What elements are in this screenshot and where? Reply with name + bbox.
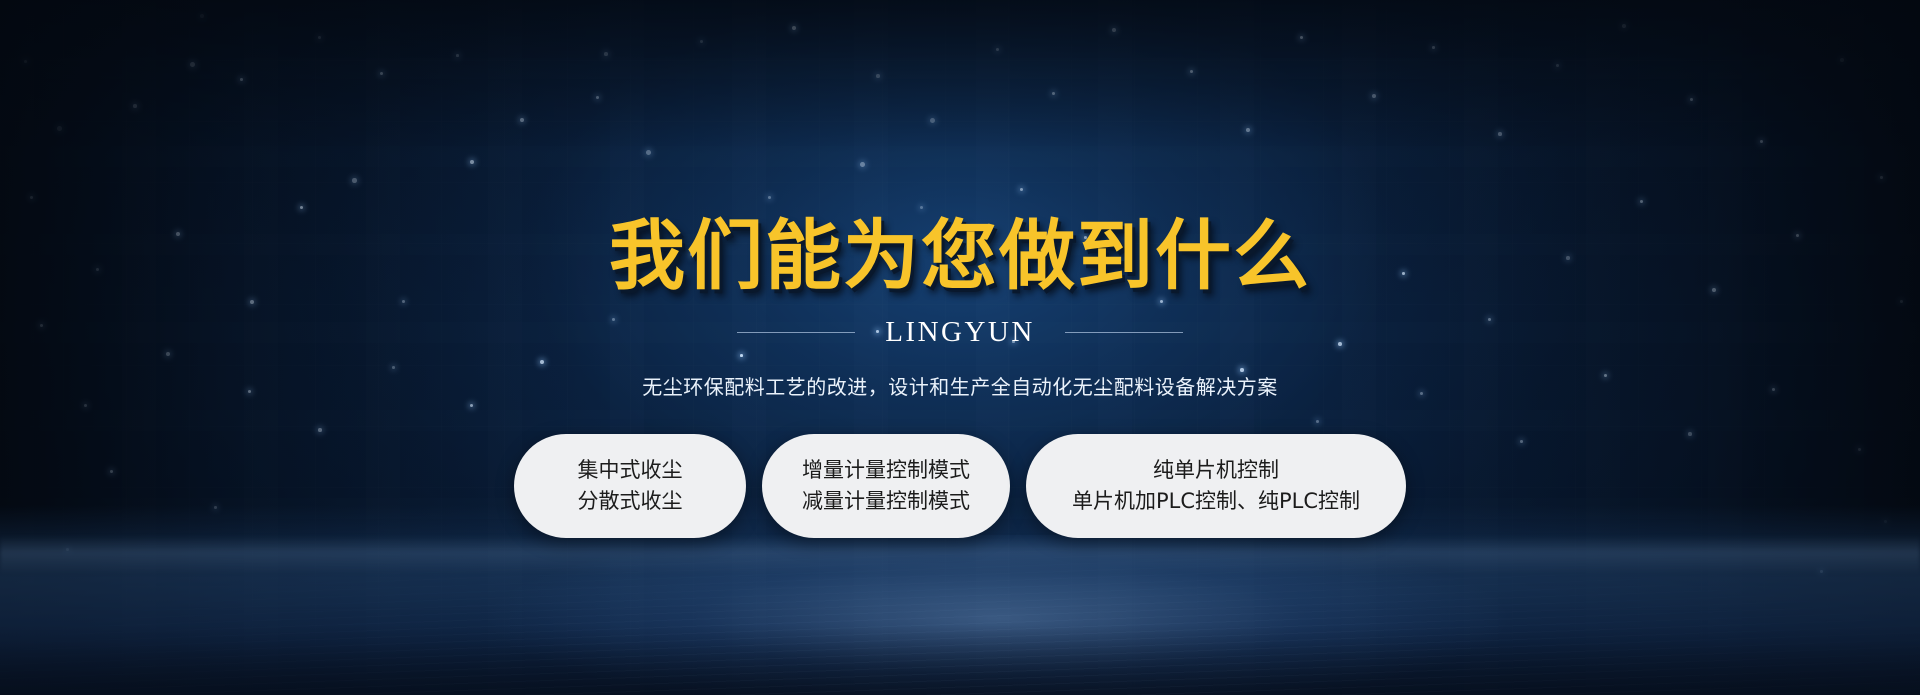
feature-card-line-1: 集中式收尘 [578,460,683,481]
divider-line-right [1065,332,1183,333]
hero-description: 无尘环保配料工艺的改进，设计和生产全自动化无尘配料设备解决方案 [642,371,1278,400]
feature-card-line-1: 纯单片机控制 [1153,460,1279,481]
hero-banner: 我们能为您做到什么 LINGYUN 无尘环保配料工艺的改进，设计和生产全自动化无… [0,0,1920,695]
brand-subtitle: LINGYUN [885,316,1035,349]
feature-card-metering-mode[interactable]: 增量计量控制模式 减量计量控制模式 [762,434,1010,538]
subtitle-row: LINGYUN [737,316,1183,349]
page-title: 我们能为您做到什么 [609,218,1311,294]
feature-card-control-system[interactable]: 纯单片机控制 单片机加PLC控制、纯PLC控制 [1026,434,1406,538]
feature-card-line-2: 单片机加PLC控制、纯PLC控制 [1072,491,1360,512]
hero-content: 我们能为您做到什么 LINGYUN 无尘环保配料工艺的改进，设计和生产全自动化无… [0,0,1920,695]
feature-card-line-1: 增量计量控制模式 [802,460,970,481]
feature-card-list: 集中式收尘 分散式收尘 增量计量控制模式 减量计量控制模式 纯单片机控制 单片机… [514,434,1406,538]
feature-card-line-2: 减量计量控制模式 [802,491,970,512]
feature-card-dust-collection[interactable]: 集中式收尘 分散式收尘 [514,434,746,538]
divider-line-left [737,332,855,333]
feature-card-line-2: 分散式收尘 [578,491,683,512]
